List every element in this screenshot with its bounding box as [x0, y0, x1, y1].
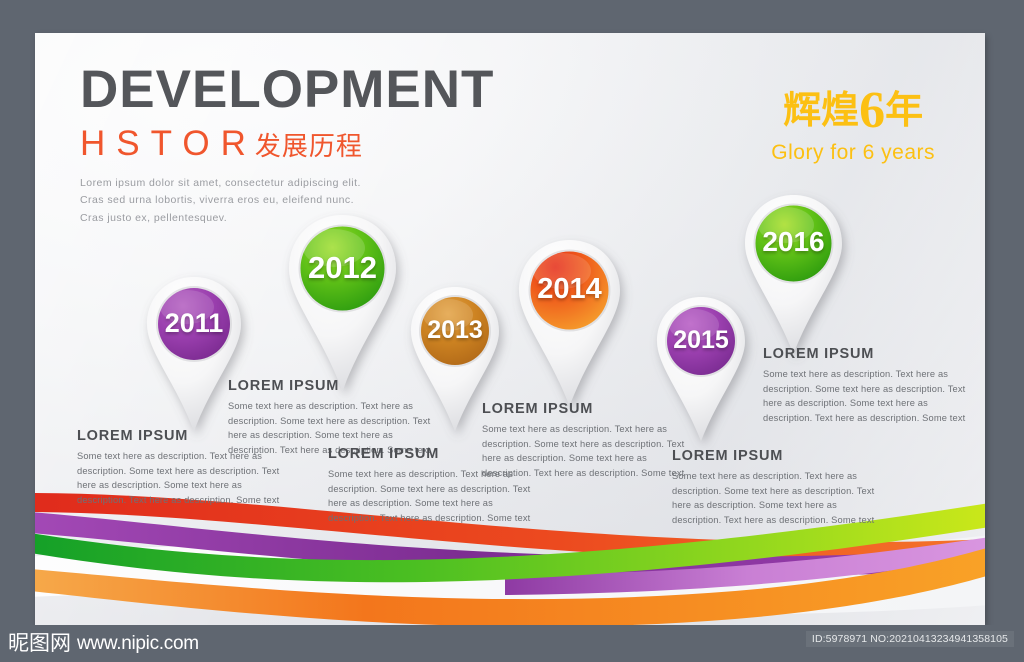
subtitle-row: HSTOR 发展历程	[80, 124, 494, 164]
glory-prefix: 辉煌	[783, 88, 859, 132]
pin-shape: 2014	[517, 238, 622, 408]
glory-number: 6	[859, 82, 885, 139]
desc-body: Some text here as description. Text here…	[482, 422, 689, 481]
glory-chinese-line: 辉煌6年	[771, 85, 935, 137]
site-watermark: 昵图网 www.nipic.com	[8, 633, 199, 655]
glory-badge: 辉煌6年 Glory for 6 years	[771, 85, 935, 165]
footer-bar: 昵图网 www.nipic.com ID:5978971 NO:20210413…	[0, 625, 1024, 662]
pin-gloss	[669, 309, 719, 341]
glory-suffix: 年	[885, 88, 923, 132]
header-block: DEVELOPMENT HSTOR 发展历程 Lorem ipsum dolor…	[80, 63, 494, 227]
pin-gloss	[758, 207, 814, 243]
milestone-desc-2014: LOREM IPSUM Some text here as descriptio…	[482, 401, 689, 481]
pin-gloss	[160, 290, 214, 324]
desc-body: Some text here as description. Text here…	[763, 367, 970, 426]
poster-canvas: DEVELOPMENT HSTOR 发展历程 Lorem ipsum dolor…	[35, 33, 985, 625]
timeline-pin-2016[interactable]: 2016	[743, 193, 844, 356]
pin-gloss	[303, 229, 365, 267]
timeline-pin-2014[interactable]: 2014	[517, 238, 622, 408]
watermark-logo-text: 昵图网	[8, 633, 71, 654]
desc-title: LOREM IPSUM	[672, 448, 879, 464]
desc-title: LOREM IPSUM	[482, 401, 689, 417]
glory-english-line: Glory for 6 years	[771, 141, 935, 165]
poster-frame: DEVELOPMENT HSTOR 发展历程 Lorem ipsum dolor…	[0, 0, 1024, 662]
pin-shape: 2016	[743, 193, 844, 356]
pin-gloss	[533, 253, 591, 289]
desc-body: Some text here as description. Text here…	[77, 449, 287, 508]
subtitle-chinese: 发展历程	[255, 126, 363, 163]
desc-title: LOREM IPSUM	[763, 346, 970, 362]
desc-body: Some text here as description. Text here…	[672, 469, 879, 528]
milestone-desc-2015: LOREM IPSUM Some text here as descriptio…	[672, 448, 879, 528]
pin-graphic	[743, 193, 844, 356]
pin-gloss	[423, 299, 473, 331]
desc-title: LOREM IPSUM	[228, 378, 435, 394]
subtitle-english: HSTOR	[80, 124, 257, 164]
timeline-pin-2012[interactable]: 2012	[287, 213, 398, 393]
milestone-desc-2016: LOREM IPSUM Some text here as descriptio…	[763, 346, 970, 426]
pin-graphic	[287, 213, 398, 393]
pin-graphic	[517, 238, 622, 408]
asset-id-badge: ID:5978971 NO:20210413234941358105	[806, 631, 1014, 647]
header-description: Lorem ipsum dolor sit amet, consectetur …	[80, 175, 380, 227]
page-title: DEVELOPMENT	[80, 63, 494, 116]
watermark-url: www.nipic.com	[77, 633, 199, 655]
pin-shape: 2012	[287, 213, 398, 393]
